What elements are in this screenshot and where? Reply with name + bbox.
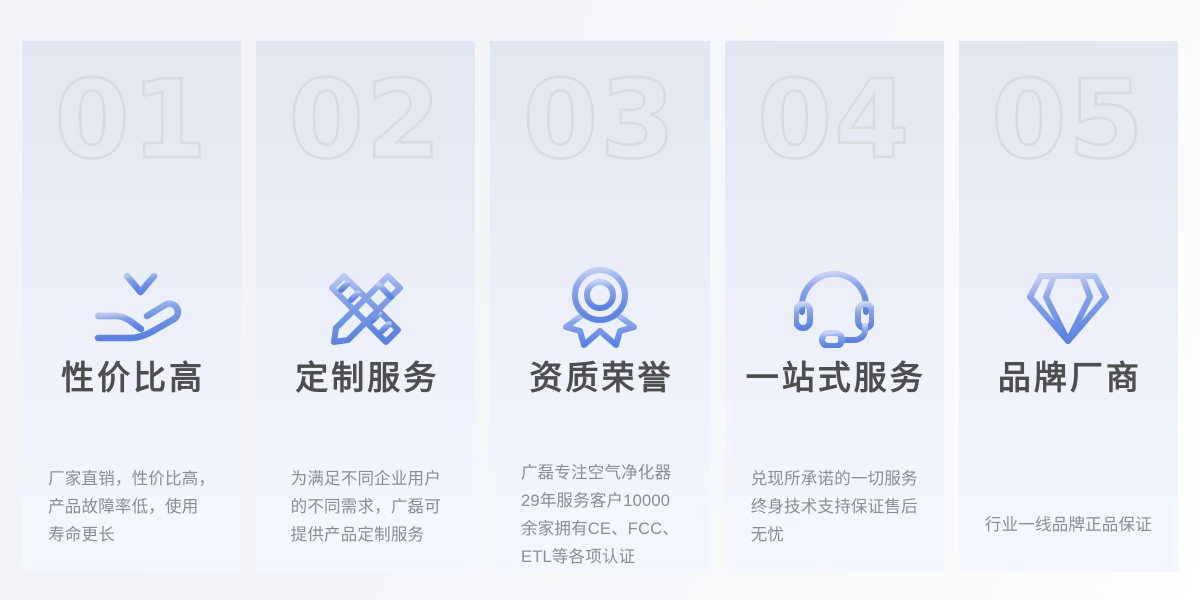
card-description: 为满足不同企业用户 的不同需求，广磊可 提供产品定制服务 [270, 465, 461, 572]
hand-holding-yuan-icon [22, 260, 241, 356]
card-number-outline: 03 [490, 67, 709, 175]
card-title: 性价比高 [22, 357, 241, 398]
card-description: 厂家直销，性价比高， 产品故障率低，使用 寿命更长 [36, 465, 227, 572]
card-number-outline: 05 [959, 67, 1178, 175]
feature-card-03[interactable]: 03 [490, 41, 709, 572]
feature-card-02[interactable]: 02 [256, 41, 475, 572]
feature-card-01[interactable]: 01 [22, 41, 241, 572]
feature-card-list: 01 [22, 41, 1178, 572]
card-title: 一站式服务 [725, 357, 944, 398]
card-description: 广磊专注空气净化器 29年服务客户10000 余家拥有CE、FCC、 ETL等各… [504, 459, 695, 572]
feature-card-04[interactable]: 04 [725, 41, 944, 572]
feature-highlights-banner: 01 [0, 0, 1200, 600]
card-number-outline: 02 [256, 67, 475, 175]
diamond-icon [959, 260, 1178, 356]
pencil-ruler-icon [256, 260, 475, 356]
card-title: 品牌厂商 [959, 357, 1178, 398]
feature-card-05[interactable]: 05 [959, 41, 1178, 572]
headset-icon [725, 260, 944, 356]
card-title: 资质荣誉 [490, 357, 709, 398]
card-description: 兑现所承诺的一切服务 终身技术支持保证售后 无忧 [739, 465, 930, 572]
award-ribbon-icon [490, 260, 709, 356]
card-number-outline: 04 [725, 67, 944, 175]
card-title: 定制服务 [256, 357, 475, 398]
card-description: 行业一线品牌正品保证 [973, 465, 1164, 572]
card-number-outline: 01 [22, 67, 241, 175]
